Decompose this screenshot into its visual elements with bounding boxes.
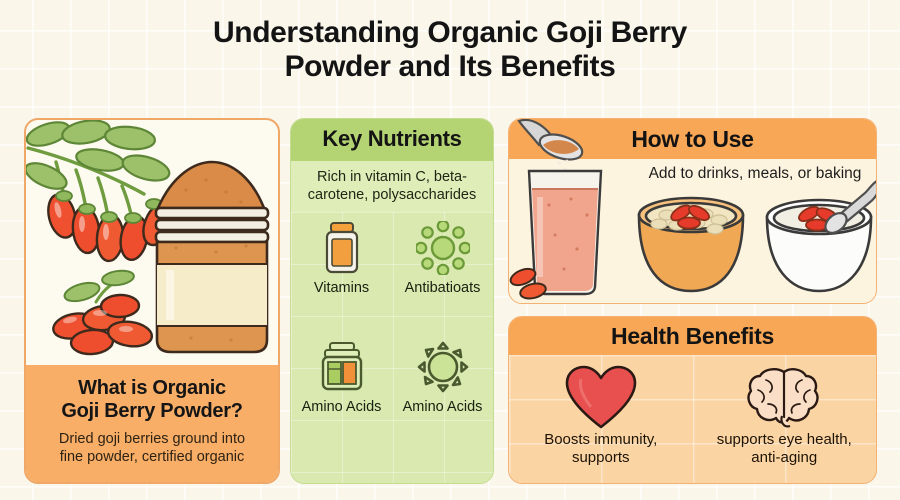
card-health-benefits: Health Benefits Boosts immunity, support… <box>508 316 877 484</box>
what-is-footer: What is Organic Goji Berry Powder? Dried… <box>26 365 278 482</box>
nutrient-grid-spacer <box>392 449 493 483</box>
dual-compartment-jar-icon <box>316 339 368 395</box>
benefit-label: Boosts immunity, supports <box>544 431 657 468</box>
card-how-to-use: How to Use Add to drinks, meals, or baki… <box>508 118 877 304</box>
nutrient-item-amino-acids-jar[interactable]: Amino Acids <box>291 331 392 449</box>
how-to-use-illustration-svg <box>509 119 877 304</box>
gear-sun-icon <box>416 339 470 395</box>
nutrient-label: Antibatioats <box>405 280 481 296</box>
heart-icon <box>565 367 637 429</box>
page-title: Understanding Organic Goji Berry Powder … <box>0 16 900 84</box>
nutrient-label: Amino Acids <box>403 399 483 415</box>
nutrient-label: Amino Acids <box>302 399 382 415</box>
how-to-use-illustration <box>509 119 876 303</box>
antioxidant-molecule-icon <box>416 220 470 276</box>
nutrient-item-amino-acids-gear[interactable]: Amino Acids <box>392 331 493 449</box>
what-is-body-text: Dried goji berries ground into fine powd… <box>36 430 268 467</box>
benefit-item-immunity[interactable]: Boosts immunity, supports <box>509 355 693 483</box>
nutrient-grid-spacer <box>291 449 392 483</box>
health-benefits-title: Health Benefits <box>611 323 774 350</box>
nutrient-item-antibatioats[interactable]: Antibatioats <box>392 212 493 330</box>
supplement-bottle-icon <box>319 220 365 276</box>
key-nutrients-description: Rich in vitamin C, beta- carotene, polys… <box>291 161 493 212</box>
benefit-grid: Boosts immunity, supports <box>509 355 876 483</box>
card-what-is-organic-goji-berry-powder: What is Organic Goji Berry Powder? Dried… <box>24 118 280 484</box>
brain-icon <box>746 367 822 429</box>
benefit-label: supports eye health, anti-aging <box>717 431 852 468</box>
benefit-item-eye-health[interactable]: supports eye health, anti-aging <box>693 355 877 483</box>
what-is-heading: What is Organic Goji Berry Powder? <box>36 377 268 423</box>
health-benefits-header: Health Benefits <box>509 317 876 355</box>
nutrient-grid: Vitamins Antibatioats <box>291 212 493 483</box>
goji-powder-illustration <box>26 120 278 365</box>
nutrient-label: Vitamins <box>314 280 369 296</box>
goji-illustration-svg <box>26 120 278 360</box>
key-nutrients-title: Key Nutrients <box>291 119 493 161</box>
nutrient-item-vitamins[interactable]: Vitamins <box>291 212 392 330</box>
card-key-nutrients: Key Nutrients Rich in vitamin C, beta- c… <box>290 118 494 484</box>
